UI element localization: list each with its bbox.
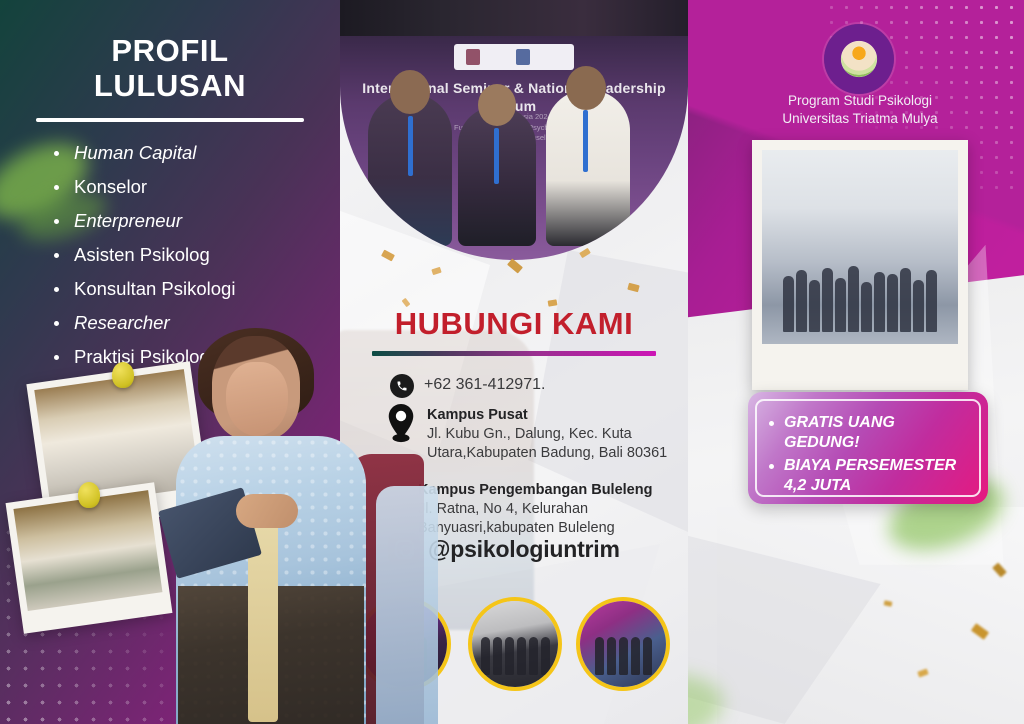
program-line-1: Program Studi Psikologi — [720, 92, 1000, 110]
promo-inner-border: GRATIS UANG GEDUNG! BIAYA PERSEMESTER 4,… — [755, 399, 981, 497]
gallery-circle-3[interactable] — [576, 597, 670, 691]
portrait-secondary-kebaya — [376, 486, 438, 724]
poster-canvas: PROFIL LULUSAN Human Capital Konselor En… — [0, 0, 1024, 724]
contact-phone-row[interactable]: +62 361-412971. — [390, 374, 545, 398]
banner-person-3-head — [566, 66, 606, 110]
phone-number: +62 361-412971. — [424, 374, 545, 394]
american-psychological-association-logo — [516, 49, 530, 65]
indonesian-psychological-association-logo — [466, 49, 480, 65]
university-logo-icon — [824, 24, 894, 94]
gallery-circle-2[interactable] — [468, 597, 562, 691]
association-logos-band — [454, 44, 574, 70]
second-campus-name: Kampus Pengembangan Buleleng — [418, 482, 652, 498]
logo-trees-icon — [849, 62, 869, 74]
pushpin-icon — [78, 482, 100, 508]
contact-main-campus-row: Kampus Pusat Jl. Kubu Gn., Dalung, Kec. … — [385, 406, 667, 463]
confetti-piece — [507, 258, 523, 273]
contact-divider — [372, 351, 656, 356]
campus-expo-booth-photo — [580, 601, 666, 687]
banner-lanyard-1 — [408, 116, 413, 176]
banner-lanyard-3 — [583, 110, 588, 172]
promo-list: GRATIS UANG GEDUNG! BIAYA PERSEMESTER 4,… — [767, 413, 971, 495]
students-formal-group-photo — [472, 601, 558, 687]
list-item: Researcher — [52, 314, 342, 333]
instagram-handle: @psikologiuntrim — [428, 536, 620, 563]
portrait-face — [226, 362, 288, 436]
pushpin-icon — [112, 362, 134, 388]
promo-item: BIAYA PERSEMESTER 4,2 JUTA — [767, 456, 971, 495]
page-title-line2: LULUSAN — [0, 69, 340, 104]
seminar-banner-photo: International Seminar & National Leaders… — [340, 0, 688, 260]
page-title: PROFIL LULUSAN — [0, 34, 340, 103]
figure-group — [762, 262, 958, 332]
polaroid-classroom-group[interactable] — [752, 140, 968, 390]
main-campus-name: Kampus Pusat — [427, 407, 528, 423]
banner-lanyard-2 — [494, 128, 499, 184]
program-study-label: Program Studi Psikologi Universitas Tria… — [720, 92, 1000, 128]
banner-person-2-head — [478, 84, 516, 126]
phone-icon — [390, 374, 414, 398]
list-item: Konselor — [52, 178, 342, 197]
contact-heading: HUBUNGI KAMI — [340, 306, 688, 342]
graduate-portrait-photo — [170, 336, 370, 724]
list-item: Human Capital — [52, 144, 342, 163]
classroom-group-photo — [762, 150, 958, 344]
list-item: Asisten Psikolog — [52, 246, 342, 265]
list-item: Enterpreneur — [52, 212, 342, 231]
title-divider — [36, 118, 304, 122]
portrait-arm — [236, 494, 298, 528]
figure-group — [580, 637, 666, 681]
banner-person-1-head — [390, 70, 430, 114]
figure-group — [472, 637, 558, 681]
contact-second-campus-row: Kampus Pengembangan Buleleng Jl. Ratna, … — [418, 481, 652, 538]
main-campus-details: Kampus Pusat Jl. Kubu Gn., Dalung, Kec. … — [427, 406, 667, 463]
second-campus-details: Kampus Pengembangan Buleleng Jl. Ratna, … — [418, 481, 652, 538]
student-group-outdoor-photo — [13, 490, 162, 611]
second-campus-address-line1: Jl. Ratna, No 4, Kelurahan — [418, 501, 588, 517]
main-campus-address-line2: Utara,Kabupaten Badung, Bali 80361 — [427, 445, 667, 461]
map-pin-icon — [385, 404, 417, 444]
promo-banner[interactable]: GRATIS UANG GEDUNG! BIAYA PERSEMESTER 4,… — [748, 392, 988, 504]
banner-person-3 — [546, 90, 630, 246]
program-line-2: Universitas Triatma Mulya — [720, 110, 1000, 128]
list-item: Konsultan Psikologi — [52, 280, 342, 299]
promo-item: GRATIS UANG GEDUNG! — [767, 413, 971, 452]
page-title-line1: PROFIL — [0, 34, 340, 69]
main-campus-address-line1: Jl. Kubu Gn., Dalung, Kec. Kuta — [427, 426, 632, 442]
